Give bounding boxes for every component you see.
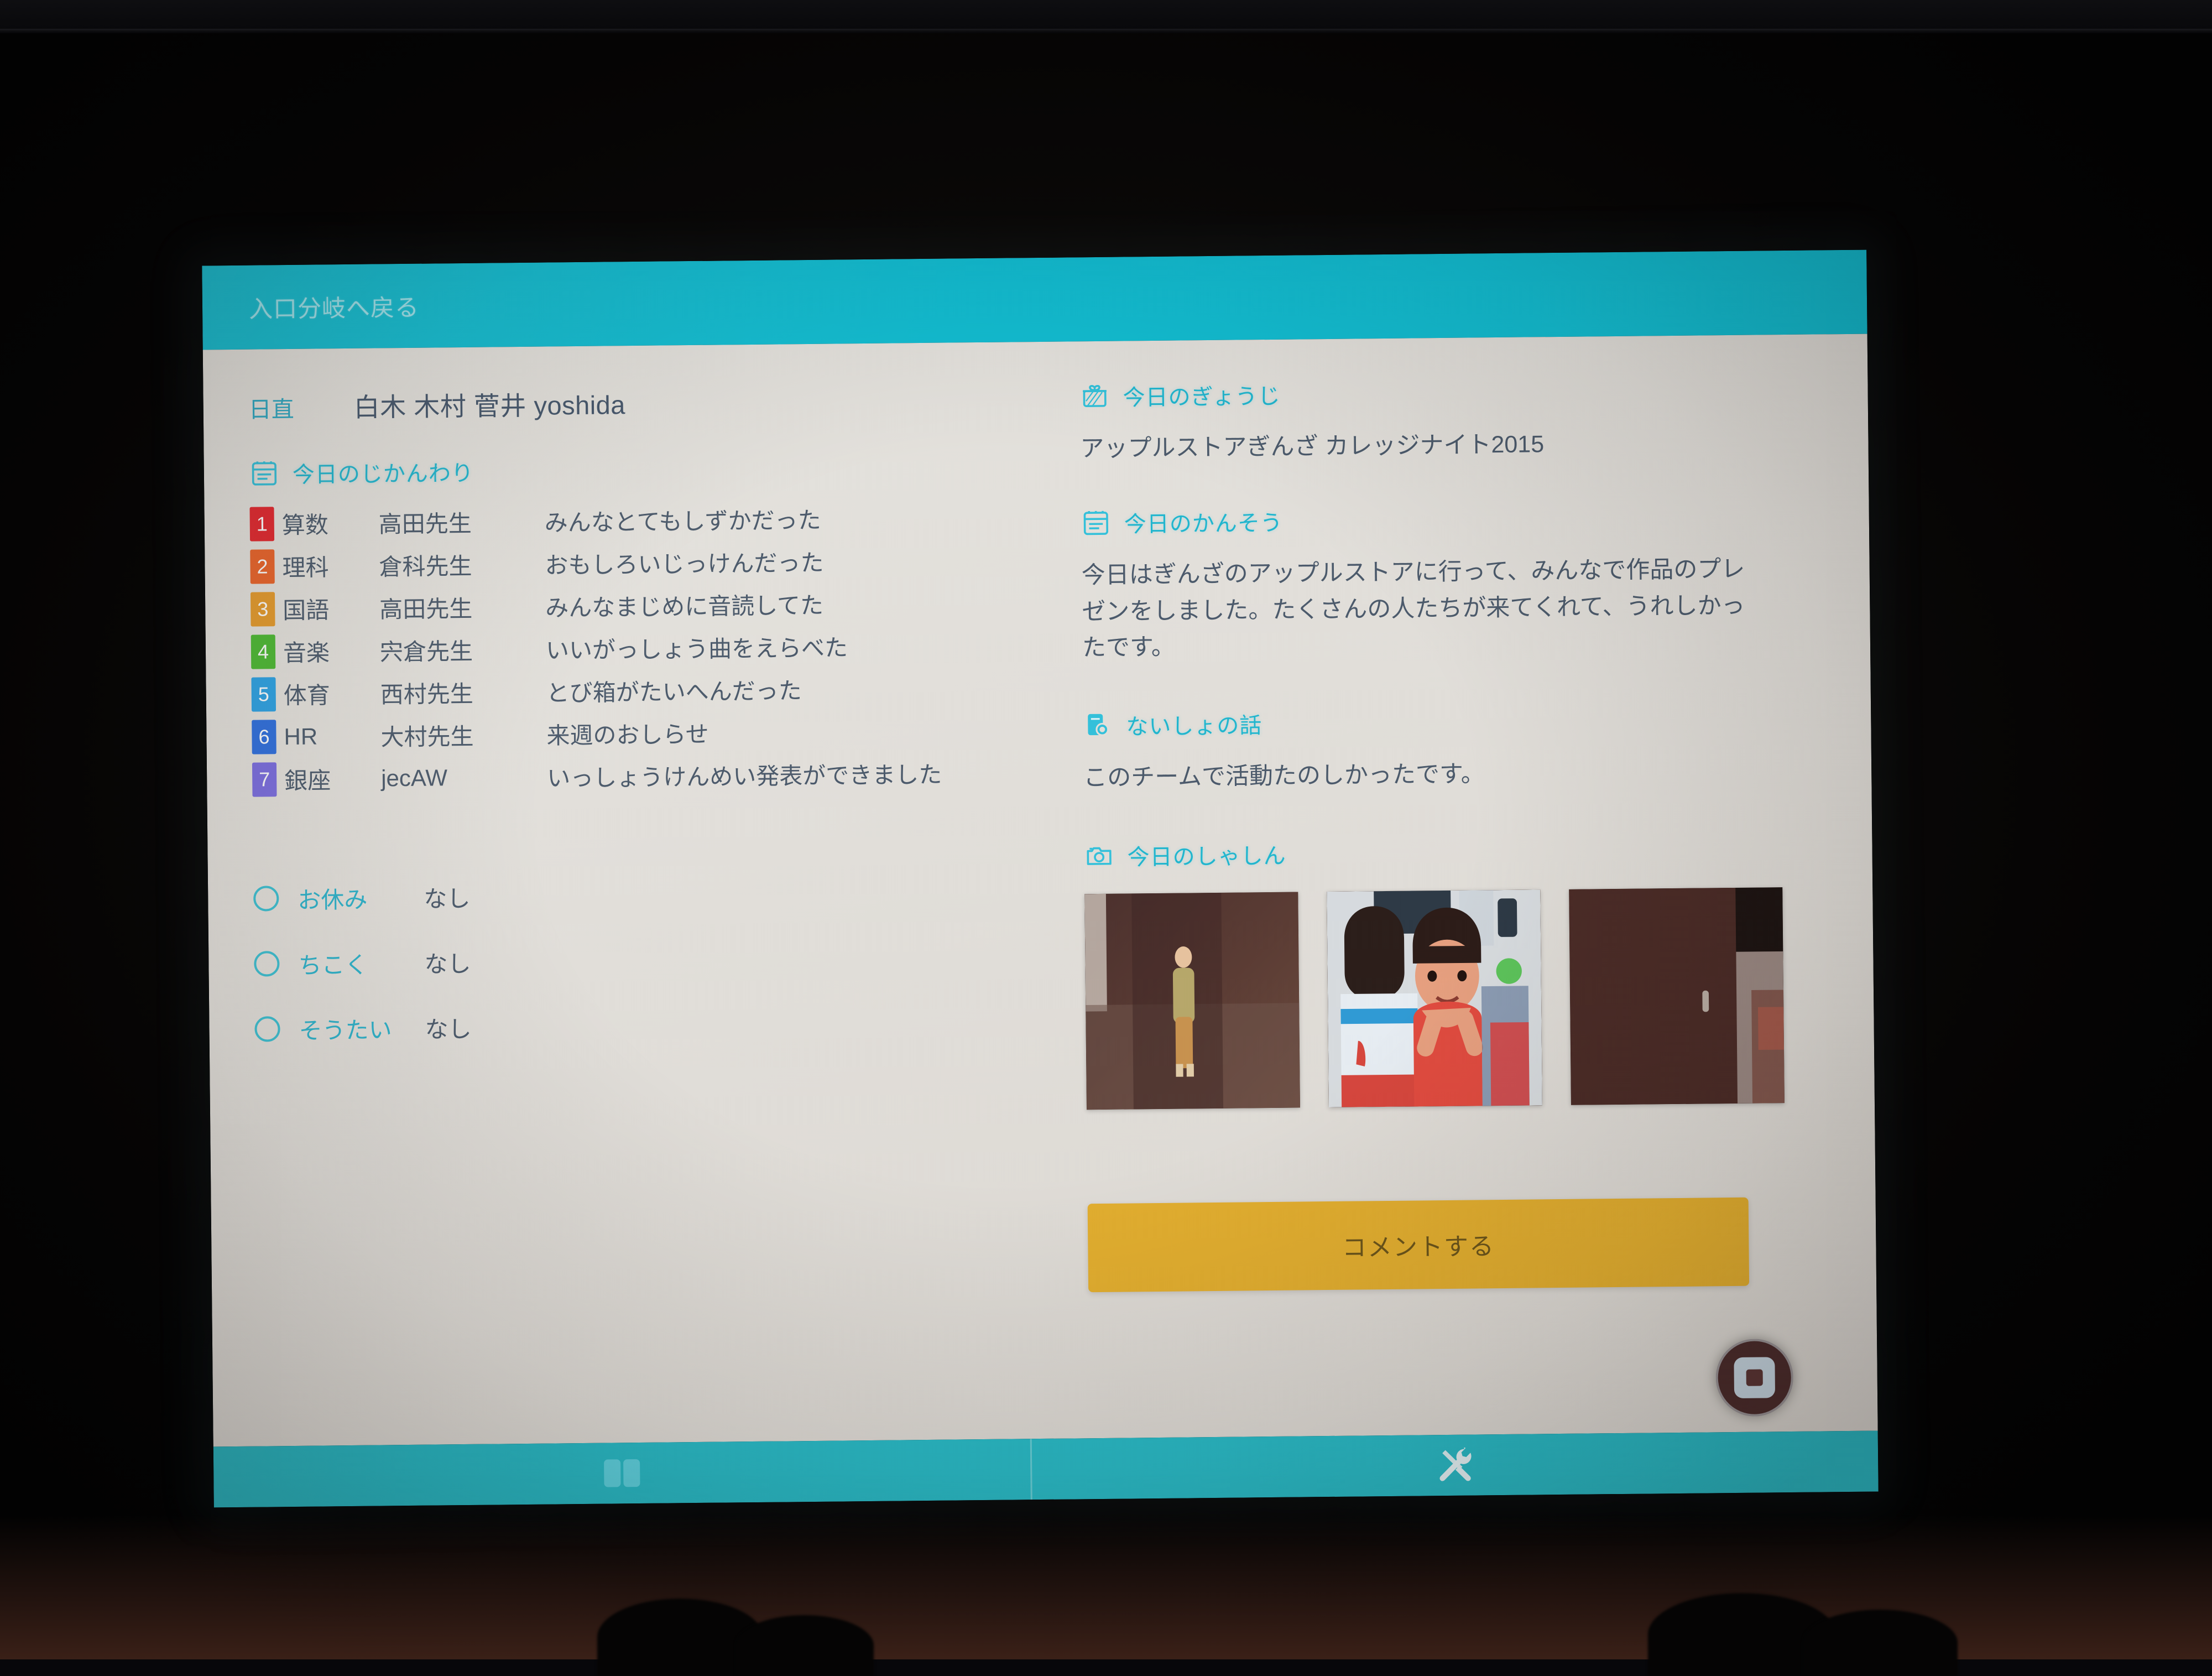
impression-heading: 今日のかんそう	[1081, 500, 1822, 539]
teacher-label: 高田先生	[378, 504, 545, 540]
ceiling-strip	[0, 0, 2212, 33]
left-column: 日直 白木 木村 菅井 yoshida 今日のじかんわり	[248, 342, 1046, 1062]
photo-thumbnail-row	[1084, 887, 1828, 1110]
event-text: アップルストアぎんざ カレッジナイト2015	[1080, 424, 1822, 467]
teacher-label: 西村先生	[380, 675, 546, 710]
event-heading-label: 今日のぎょうじ	[1123, 378, 1281, 412]
timetable-row[interactable]: 2理科倉科先生おもしろいじっけんだった	[250, 538, 1041, 588]
tab-book[interactable]	[213, 1439, 1032, 1507]
timetable-row[interactable]: 7銀座jecAWいっしょうけんめい発表ができました	[252, 751, 1044, 801]
period-badge: 2	[250, 549, 275, 584]
gift-icon	[1079, 381, 1110, 412]
period-note: とび箱がたいへんだった	[546, 672, 802, 708]
photos-block: 今日のしゃしん	[1084, 832, 1828, 1110]
teacher-label: 宍倉先生	[380, 632, 546, 668]
subject-label: 算数	[281, 506, 379, 540]
timetable-heading: 今日のじかんわり	[249, 450, 1040, 490]
subject-label: 銀座	[284, 761, 382, 796]
period-badge: 7	[252, 762, 277, 797]
period-note: おもしろいじっけんだった	[545, 544, 824, 581]
timetable-row[interactable]: 6HR大村先生来週のおしらせ	[252, 708, 1043, 758]
attendance-list: お休みなしちこくなしそうたいなし	[253, 858, 1046, 1062]
impression-text: 今日はぎんざのアップルストアに行って、みんなで作品のプレゼンをしました。たくさん…	[1081, 551, 1746, 667]
secret-text: このチームで活動たのしかったです。	[1083, 753, 1825, 797]
subject-label: 音楽	[283, 633, 380, 668]
period-note: 来週のおしらせ	[546, 716, 709, 751]
attendance-label: そうたい	[299, 1011, 425, 1045]
audience-head-silhouette	[735, 1615, 874, 1676]
teacher-label: 高田先生	[379, 590, 546, 625]
audience-head-silhouette	[1803, 1610, 1958, 1676]
record-stop-button[interactable]	[1715, 1339, 1793, 1417]
clipboard-icon	[249, 458, 280, 488]
tools-icon	[1434, 1444, 1476, 1486]
page-body: 日直 白木 木村 菅井 yoshida 今日のじかんわり	[203, 334, 1878, 1447]
right-column: 今日のぎょうじ アップルストアぎんざ カレッジナイト2015	[1079, 334, 1829, 1292]
subject-label: 体育	[283, 676, 380, 711]
period-badge: 4	[251, 634, 276, 669]
subject-label: 理科	[282, 548, 379, 583]
wall-seam	[0, 29, 2212, 32]
photo-thumbnail[interactable]	[1084, 892, 1300, 1110]
event-block: 今日のぎょうじ アップルストアぎんざ カレッジナイト2015	[1079, 373, 1821, 467]
attendance-toggle[interactable]	[253, 886, 279, 911]
secret-note-icon	[1083, 710, 1113, 741]
timetable-heading-label: 今日のじかんわり	[293, 455, 474, 489]
period-note: いっしょうけんめい発表ができました	[547, 756, 942, 794]
attendance-toggle[interactable]	[254, 951, 279, 976]
photos-heading-label: 今日のしゃしん	[1127, 838, 1286, 872]
app-navbar: 入口分岐へ戻る	[202, 250, 1867, 350]
book-icon	[604, 1459, 640, 1487]
duty-names: 白木 木村 菅井 yoshida	[353, 383, 625, 424]
secret-heading-label: ないしょの話	[1126, 708, 1262, 741]
impression-block: 今日のかんそう 今日はぎんざのアップルストアに行って、みんなで作品のプレゼンをし…	[1081, 500, 1824, 667]
period-badge: 5	[251, 677, 276, 711]
clipboard-icon	[1081, 508, 1112, 538]
camera-icon	[1084, 841, 1114, 871]
attendance-value: なし	[424, 879, 471, 914]
attendance-value: なし	[424, 945, 471, 979]
subject-label: 国語	[283, 591, 380, 626]
teacher-label: jecAW	[381, 763, 547, 792]
teacher-label: 大村先生	[380, 717, 547, 753]
attendance-toggle[interactable]	[254, 1016, 280, 1042]
photo-thumbnail[interactable]	[1327, 889, 1542, 1107]
attendance-label: ちこく	[298, 945, 425, 980]
timetable-row[interactable]: 3国語高田先生みんなまじめに音読してた	[251, 580, 1042, 631]
attendance-value: なし	[425, 1010, 472, 1044]
period-badge: 3	[251, 592, 275, 626]
tab-tools[interactable]	[1032, 1431, 1879, 1500]
duty-label: 日直	[248, 390, 354, 424]
back-button[interactable]: 入口分岐へ戻る	[249, 289, 420, 325]
impression-heading-label: 今日のかんそう	[1124, 505, 1284, 539]
photo-thumbnail[interactable]	[1569, 887, 1785, 1105]
projected-screen: 入口分岐へ戻る 日直 白木 木村 菅井 yoshida	[202, 250, 1878, 1508]
attendance-row[interactable]: ちこくなし	[254, 924, 1045, 997]
attendance-row[interactable]: お休みなし	[253, 858, 1045, 931]
secret-block: ないしょの話 このチームで活動たのしかったです。	[1083, 702, 1824, 797]
timetable-list: 1算数高田先生みんなとてもしずかだった2理科倉科先生おもしろいじっけんだった3国…	[249, 495, 1043, 801]
period-note: いいがっしょう曲をえらべた	[546, 629, 848, 665]
period-badge: 1	[249, 507, 274, 541]
teacher-label: 倉科先生	[379, 547, 545, 582]
stop-square-inner	[1746, 1369, 1763, 1386]
secret-heading: ないしょの話	[1083, 702, 1824, 742]
period-note: みんなとてもしずかだった	[544, 502, 821, 538]
subject-label: HR	[284, 722, 380, 750]
attendance-label: お休み	[298, 880, 424, 915]
timetable-row[interactable]: 5体育西村先生とび箱がたいへんだった	[251, 665, 1042, 716]
stop-square-icon	[1734, 1357, 1775, 1398]
timetable-row[interactable]: 4音楽宍倉先生いいがっしょう曲をえらべた	[251, 623, 1042, 673]
comment-button[interactable]: コメントする	[1088, 1198, 1749, 1292]
period-badge: 6	[252, 720, 276, 754]
event-heading: 今日のぎょうじ	[1079, 373, 1820, 412]
period-note: みんなまじめに音読してた	[545, 587, 823, 623]
photos-heading: 今日のしゃしん	[1084, 832, 1825, 872]
timetable-row[interactable]: 1算数高田先生みんなとてもしずかだった	[249, 495, 1041, 545]
attendance-row[interactable]: そうたいなし	[254, 989, 1046, 1062]
duty-row: 日直 白木 木村 菅井 yoshida	[248, 342, 1040, 425]
